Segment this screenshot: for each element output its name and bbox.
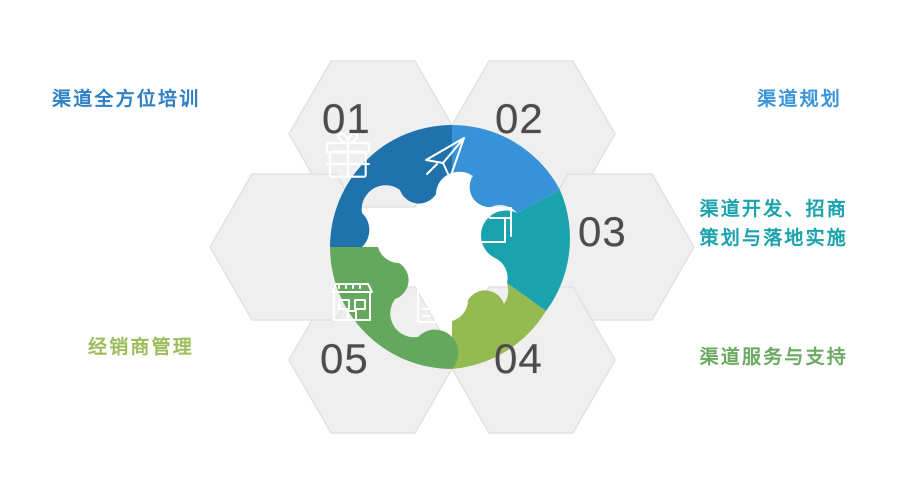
number-02: 02 — [495, 95, 544, 142]
label-step-01: 渠道全方位培训 — [52, 86, 200, 115]
label-step-03-line1: 渠道开发、招商 — [700, 196, 848, 225]
label-step-03-line2: 策划与落地实施 — [700, 225, 848, 254]
label-step-02: 渠道规划 — [757, 86, 842, 115]
label-step-03: 渠道开发、招商 策划与落地实施 — [700, 196, 848, 253]
infographic-stage: 01 02 03 04 05 渠道全方位培训 渠道规划 渠道开发、招商 策划与落… — [0, 0, 904, 495]
label-step-04: 渠道服务与支持 — [700, 344, 848, 373]
number-03: 03 — [578, 208, 627, 255]
number-01: 01 — [322, 95, 371, 142]
number-04: 04 — [494, 335, 543, 382]
number-05: 05 — [320, 335, 369, 382]
label-step-05: 经销商管理 — [88, 334, 194, 363]
